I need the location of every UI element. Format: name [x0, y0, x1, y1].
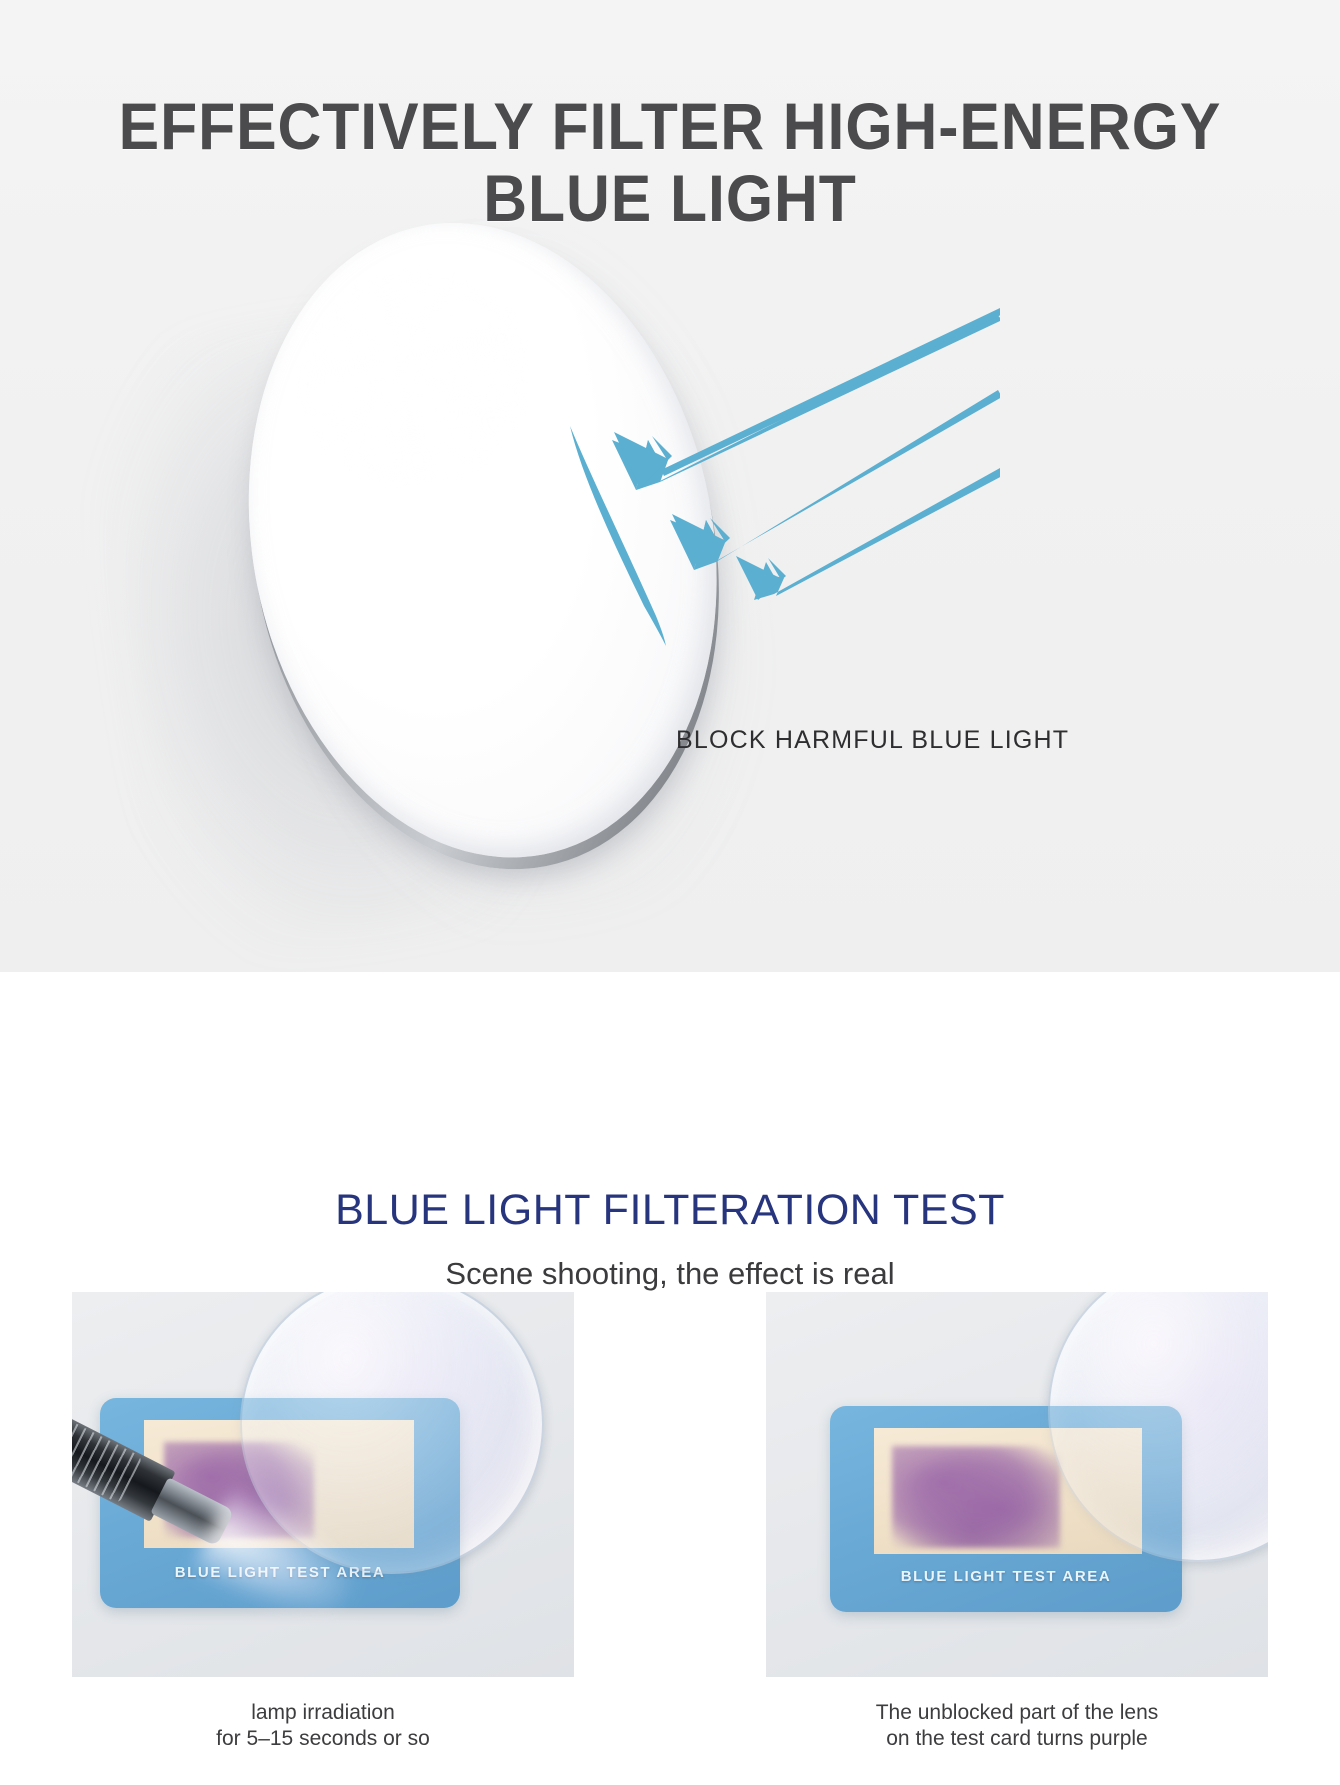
test-card-label-right: BLUE LIGHT TEST AREA	[830, 1568, 1182, 1585]
lens-gloss-highlight	[275, 248, 551, 507]
test-photo-right: BLUE LIGHT TEST AREA	[766, 1292, 1268, 1677]
filtration-test-section: BLUE LIGHT FILTERATION TEST Scene shooti…	[0, 972, 1340, 1785]
block-harmful-light-caption: BLOCK HARMFUL BLUE LIGHT	[676, 726, 1069, 755]
ray-arrowheads	[540, 300, 1000, 600]
page-title: EFFECTIVELY FILTER HIGH-ENERGY BLUE LIGH…	[54, 90, 1287, 234]
test-photo-panels: BLUE LIGHT TEST AREA	[72, 1292, 1268, 1677]
caption-left: lamp irradiation for 5–15 seconds or so	[72, 1700, 574, 1752]
purple-stain-right	[892, 1446, 1060, 1548]
hero-section: EFFECTIVELY FILTER HIGH-ENERGY BLUE LIGH…	[0, 0, 1340, 972]
test-section-heading: BLUE LIGHT FILTERATION TEST	[0, 1186, 1340, 1235]
test-section-subtitle: Scene shooting, the effect is real	[0, 1256, 1340, 1292]
caption-right: The unblocked part of the lens on the te…	[766, 1700, 1268, 1752]
infographic-page: EFFECTIVELY FILTER HIGH-ENERGY BLUE LIGH…	[0, 0, 1340, 1785]
test-photo-left: BLUE LIGHT TEST AREA	[72, 1292, 574, 1677]
